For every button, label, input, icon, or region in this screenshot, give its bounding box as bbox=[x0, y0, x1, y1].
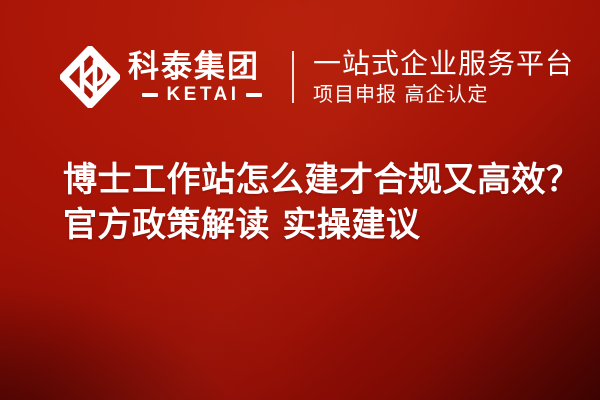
slogan-sub: 项目申报 高企认定 bbox=[313, 82, 574, 107]
slogan-main: 一站式企业服务平台 bbox=[313, 48, 574, 80]
headline-line-1: 博士工作站怎么建才合规又高效？ bbox=[63, 158, 563, 203]
promo-banner: 科泰集团 KETAI 一站式企业服务平台 项目申报 高企认定 博士工作站怎么建才… bbox=[0, 0, 600, 400]
dash-left-icon bbox=[142, 93, 158, 97]
brand-name-en: KETAI bbox=[158, 85, 245, 105]
ketai-logo-icon bbox=[60, 46, 120, 108]
brand-name-cn: 科泰集团 bbox=[128, 50, 276, 84]
headline-block: 博士工作站怎么建才合规又高效？ 官方政策解读 实操建议 bbox=[63, 158, 563, 248]
headline-line-2: 官方政策解读 实操建议 bbox=[63, 203, 563, 248]
brand-divider bbox=[292, 51, 294, 103]
dash-right-icon bbox=[246, 93, 262, 97]
brand-name-en-row: KETAI bbox=[128, 85, 276, 105]
brand-wordmark: 科泰集团 KETAI bbox=[128, 50, 276, 105]
brand-lockup: 科泰集团 KETAI 一站式企业服务平台 项目申报 高企认定 bbox=[60, 40, 574, 114]
slogan-block: 一站式企业服务平台 项目申报 高企认定 bbox=[313, 48, 574, 107]
